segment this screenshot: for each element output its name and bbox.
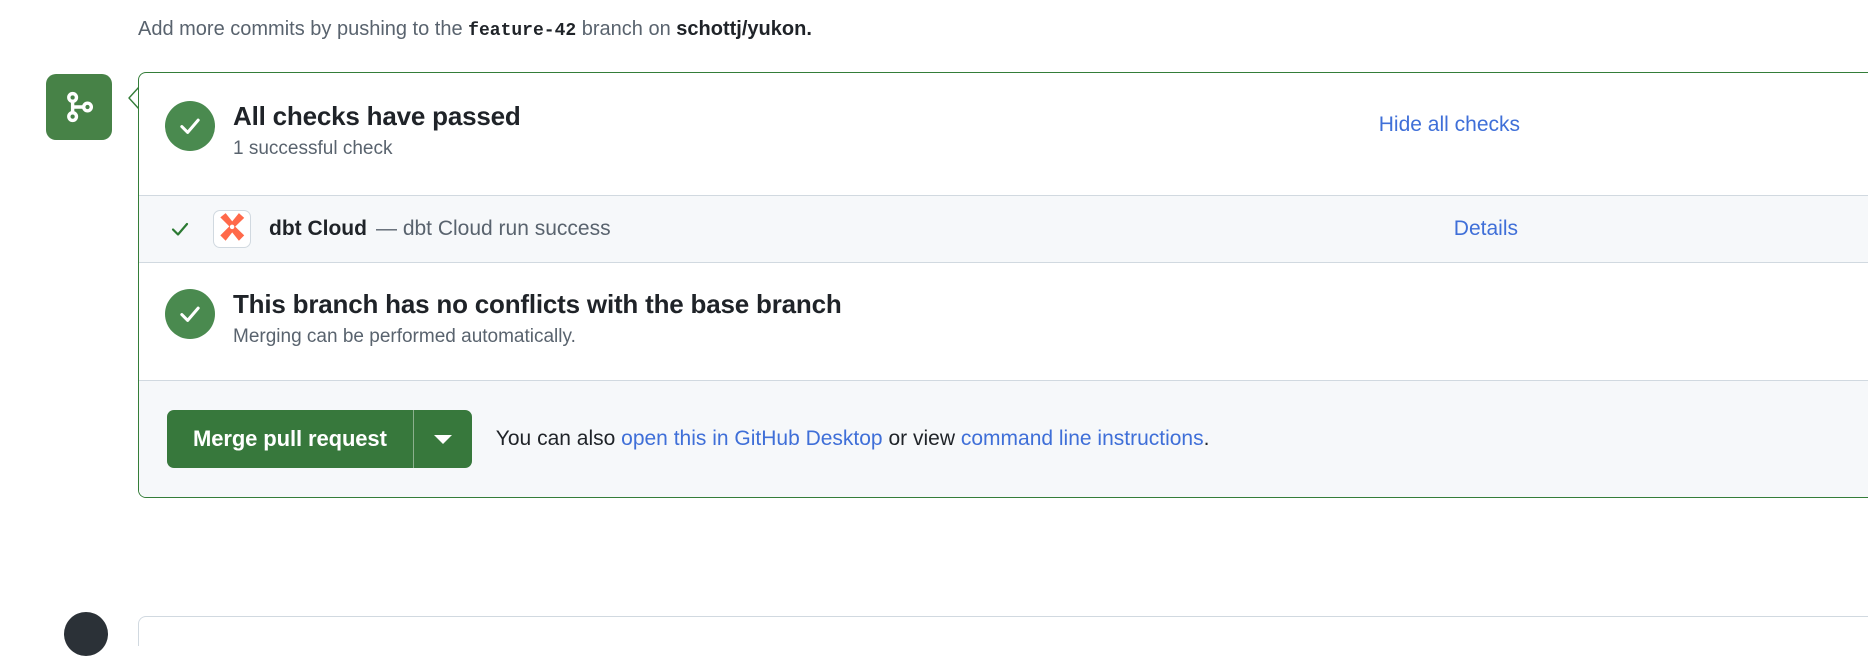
checks-subtitle: 1 successful check — [233, 135, 521, 163]
check-description-text: dbt Cloud run success — [403, 217, 611, 240]
check-name: dbt Cloud — [269, 217, 367, 241]
check-separator: — — [376, 217, 397, 240]
check-icon — [167, 217, 193, 241]
note-suffix: . — [1204, 427, 1210, 450]
checks-header-text: All checks have passed 1 successful chec… — [233, 99, 521, 163]
github-desktop-link[interactable]: open this in GitHub Desktop — [621, 427, 882, 450]
command-line-instructions-link[interactable]: command line instructions — [961, 427, 1204, 450]
push-notice-suffix: . — [806, 18, 812, 40]
merge-pull-request-button[interactable]: Merge pull request — [167, 410, 413, 468]
push-notice-middle: branch on — [582, 18, 671, 40]
note-middle: or view — [888, 427, 955, 450]
conflicts-text: This branch has no conflicts with the ba… — [233, 287, 842, 351]
merge-button-group: Merge pull request — [167, 410, 472, 468]
conflicts-title: This branch has no conflicts with the ba… — [233, 287, 842, 321]
note-prefix: You can also — [496, 427, 616, 450]
repository-name-text: schottj/yukon — [676, 18, 806, 40]
merge-action-section: Merge pull request You can also open thi… — [139, 381, 1868, 497]
merge-alternatives-note: You can also open this in GitHub Desktop… — [496, 427, 1210, 451]
branch-name: feature-42 — [468, 21, 576, 41]
checks-header-section: All checks have passed 1 successful chec… — [139, 73, 1868, 195]
conflicts-section: This branch has no conflicts with the ba… — [139, 263, 1868, 381]
git-merge-icon — [62, 90, 96, 124]
merge-box: All checks have passed 1 successful chec… — [138, 72, 1868, 498]
check-description: — dbt Cloud run success — [376, 217, 611, 241]
checks-status-icon — [165, 101, 215, 151]
check-details-link[interactable]: Details — [1454, 217, 1518, 241]
next-timeline-box — [138, 616, 1868, 646]
conflicts-subtitle: Merging can be performed automatically. — [233, 323, 842, 351]
check-row[interactable]: dbt Cloud — dbt Cloud run success Detail… — [139, 195, 1868, 263]
dbt-cloud-logo — [213, 210, 251, 248]
merge-status-badge — [46, 74, 112, 140]
next-timeline-avatar — [64, 612, 108, 656]
merge-options-dropdown-button[interactable] — [414, 410, 472, 468]
hide-all-checks-link[interactable]: Hide all checks — [1379, 111, 1520, 139]
checks-title: All checks have passed — [233, 99, 521, 133]
push-notice-prefix: Add more commits by pushing to the — [138, 18, 463, 40]
repository-name: schottj/yukon. — [676, 18, 812, 40]
chevron-down-icon — [434, 435, 452, 444]
push-commits-notice: Add more commits by pushing to the featu… — [138, 14, 812, 46]
conflicts-status-icon — [165, 289, 215, 339]
